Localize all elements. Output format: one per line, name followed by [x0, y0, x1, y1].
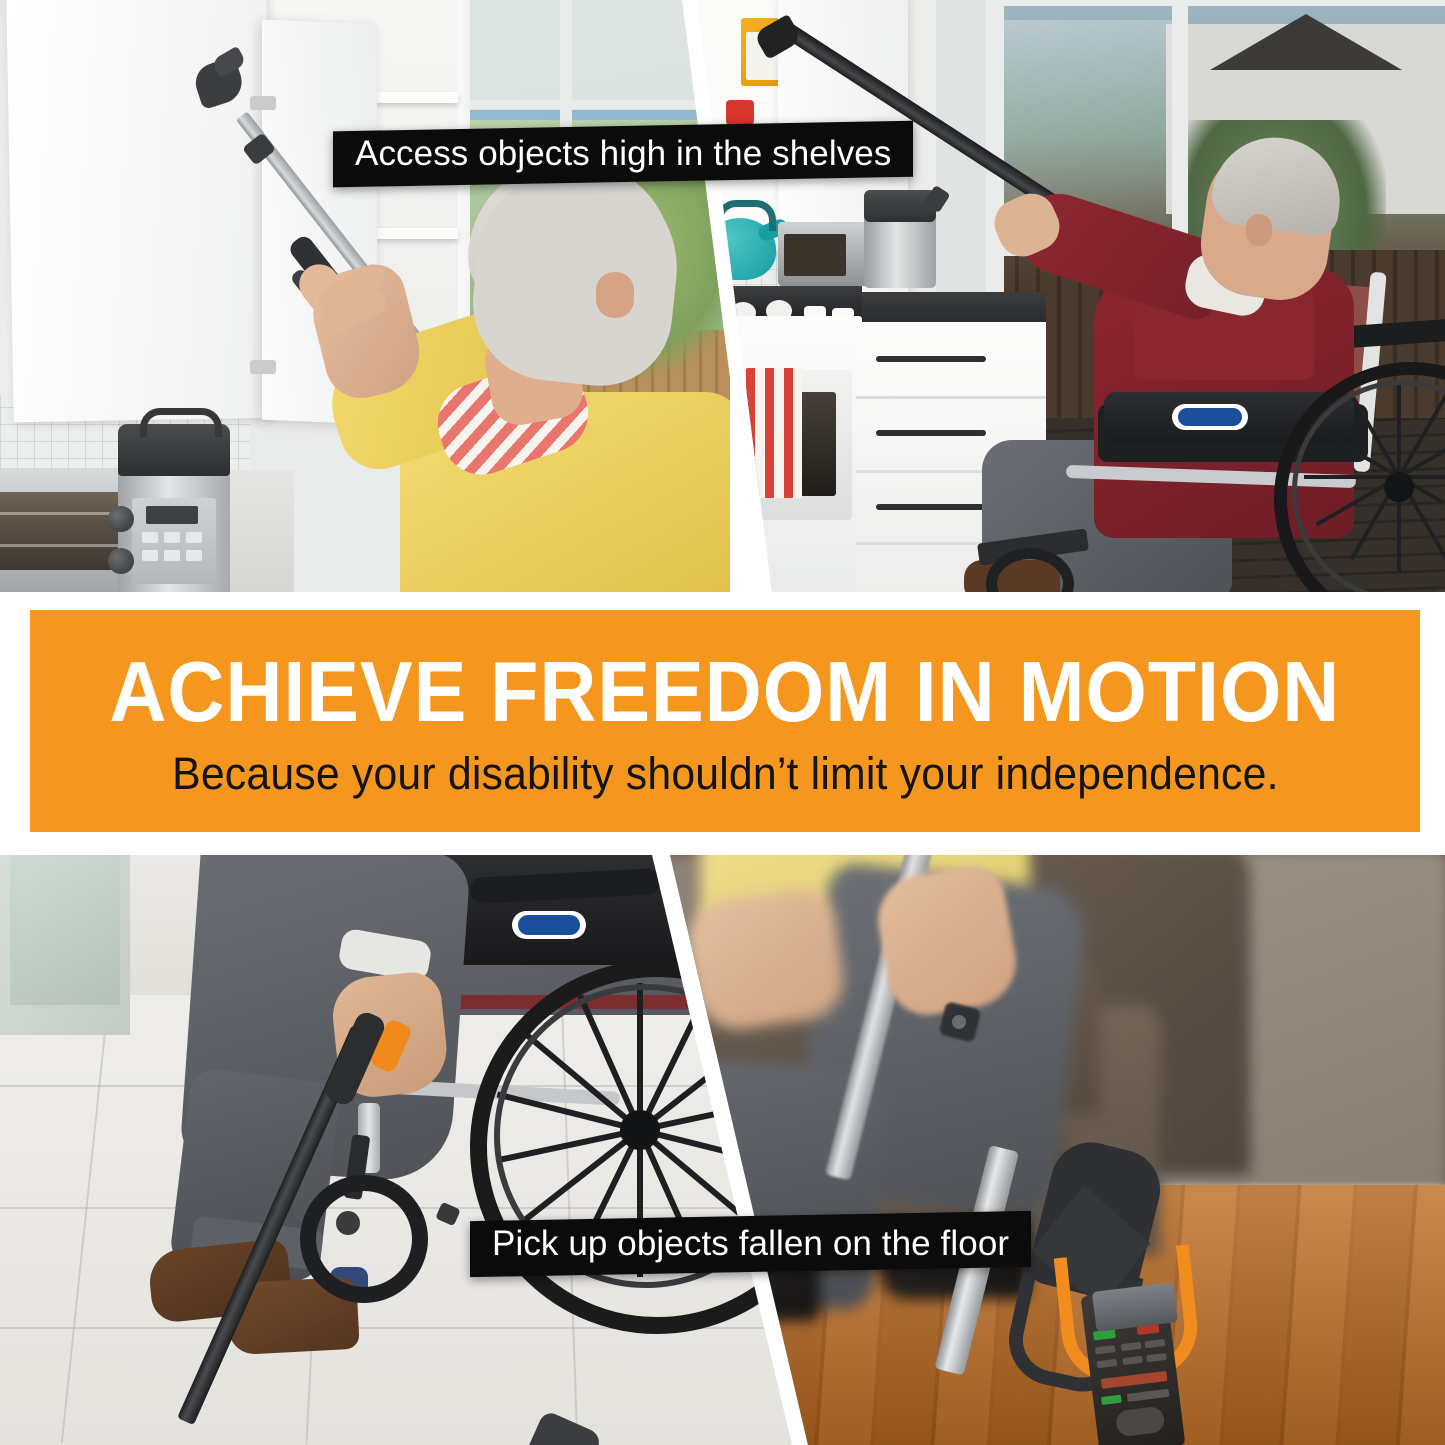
hinge: [250, 360, 276, 374]
kettle-handle: [716, 200, 776, 231]
castor-wheel: [300, 1175, 428, 1303]
knob: [108, 548, 134, 574]
cooker-lid: [864, 190, 936, 222]
caption-bottom: Pick up objects fallen on the floor: [470, 1211, 1031, 1277]
drawer-handle: [876, 430, 986, 436]
caption-bottom-text: Pick up objects fallen on the floor: [492, 1224, 1009, 1264]
drawer-handle: [876, 504, 986, 510]
scene-kitchen-cabinet: [0, 0, 730, 592]
panel-bottom-left: [0, 855, 800, 1445]
toaster-glass: [784, 234, 846, 276]
glass-partition: [10, 855, 120, 1005]
banner-subtitle: Because your disability shouldn’t limit …: [172, 751, 1279, 796]
hinge: [250, 96, 276, 110]
door-frame: [986, 0, 1445, 6]
banner-title: ACHIEVE FREEDOM IN MOTION: [109, 650, 1340, 735]
brand-logo: [1172, 404, 1248, 430]
scene-pickup-keys: [0, 855, 800, 1445]
promo-banner: ACHIEVE FREEDOM IN MOTION Because your d…: [30, 610, 1420, 832]
promo-image: Access objects high in the shelves Pick …: [0, 0, 1445, 1445]
knob: [108, 506, 134, 532]
panel-bottom-right: [660, 855, 1445, 1445]
panel-top-right: [686, 0, 1445, 592]
wheel-hub: [620, 1110, 660, 1150]
cooker-handle: [140, 408, 222, 437]
panel-top-left: [0, 0, 730, 592]
photo-row-top: [0, 0, 1445, 592]
ear: [596, 272, 634, 318]
brand-logo: [512, 911, 586, 939]
ear: [1246, 214, 1272, 246]
caption-top: Access objects high in the shelves: [333, 121, 913, 188]
castor-hub: [336, 1211, 360, 1235]
hand: [682, 885, 849, 1035]
striped-towel: [746, 368, 802, 498]
joint-bolt: [952, 1015, 966, 1029]
wheel-hub: [1384, 472, 1414, 502]
scene-pickup-remote: [660, 855, 1445, 1445]
drawer-handle: [876, 356, 986, 362]
scene-wheelchair-reach: [686, 0, 1445, 592]
oven-rack: [0, 544, 130, 547]
caption-top-text: Access objects high in the shelves: [355, 134, 891, 174]
cooker-display: [146, 506, 198, 524]
photo-row-bottom: [0, 855, 1445, 1445]
